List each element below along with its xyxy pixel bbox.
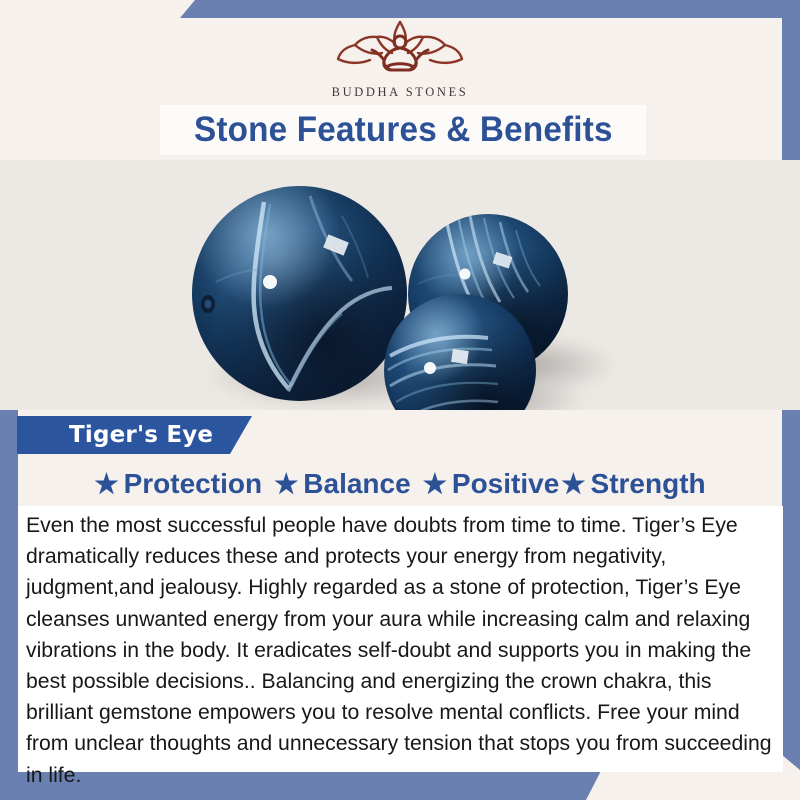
benefit-item-strength: ★ Strength	[561, 468, 705, 500]
page-title: Stone Features & Benefits	[160, 105, 646, 155]
benefit-item-protection: ★ Protection	[94, 468, 262, 500]
poster-canvas: BUDDHA STONES Stone Features & Benefits	[0, 0, 800, 800]
brand-logo: BUDDHA STONES	[0, 16, 800, 104]
lotus-meditation-figure-icon	[325, 16, 475, 83]
benefit-label: Balance	[303, 468, 410, 500]
benefits-row: ★ Protection ★ Balance ★ Positive ★ Stre…	[0, 464, 800, 504]
description-panel: Even the most successful people have dou…	[18, 506, 783, 772]
benefit-label: Protection	[124, 468, 262, 500]
star-icon: ★	[423, 471, 447, 498]
benefit-label: Positive	[452, 468, 559, 500]
product-photo	[0, 160, 800, 410]
star-icon: ★	[274, 471, 298, 498]
brand-name: BUDDHA STONES	[332, 85, 469, 100]
star-icon: ★	[561, 471, 585, 498]
description-text: Even the most successful people have dou…	[18, 506, 783, 791]
page-title-text: Stone Features & Benefits	[194, 110, 613, 150]
benefit-label: Strength	[591, 468, 706, 500]
benefit-item-balance: ★ Balance	[274, 468, 411, 500]
benefit-item-positive: ★ Positive	[423, 468, 560, 500]
stone-name-tab: Tiger's Eye	[17, 416, 252, 454]
stone-name-label: Tiger's Eye	[69, 422, 213, 448]
tigers-eye-sphere-large	[192, 186, 407, 401]
star-icon: ★	[94, 471, 118, 498]
